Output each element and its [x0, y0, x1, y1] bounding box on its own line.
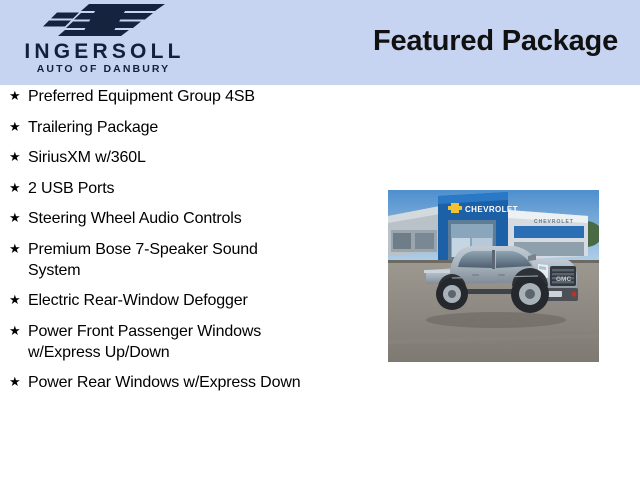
vehicle-photo-graphic: CHEVROLET CHEVROLET [388, 190, 599, 362]
star-bullet-icon: ★ [9, 116, 28, 138]
list-item: ★ Trailering Package [0, 116, 380, 138]
list-item: ★ Premium Bose 7-Speaker Sound System [0, 238, 380, 281]
feature-label: Electric Rear-Window Defogger [28, 289, 380, 311]
feature-label: Power Rear Windows w/Express Down [28, 371, 380, 393]
star-bullet-icon: ★ [9, 371, 28, 393]
star-bullet-icon: ★ [9, 320, 28, 342]
list-item: ★ SiriusXM w/360L [0, 146, 380, 168]
star-bullet-icon: ★ [9, 238, 28, 260]
feature-label: Trailering Package [28, 116, 380, 138]
star-bullet-icon: ★ [9, 85, 28, 107]
feature-list: ★ Preferred Equipment Group 4SB ★ Traile… [0, 85, 380, 402]
svg-text:GMC: GMC [556, 276, 571, 283]
feature-label: SiriusXM w/360L [28, 146, 380, 168]
page-title: Featured Package [373, 24, 618, 58]
feature-label: Steering Wheel Audio Controls [28, 207, 380, 229]
winged-f-emblem-icon [37, 2, 169, 40]
list-item: ★ 2 USB Ports [0, 177, 380, 199]
star-bullet-icon: ★ [9, 207, 28, 229]
feature-label: 2 USB Ports [28, 177, 380, 199]
gmc-sierra-at4-pickup-photo: CHEVROLET CHEVROLET [388, 190, 599, 362]
svg-text:CHEVROLET: CHEVROLET [534, 219, 574, 225]
star-bullet-icon: ★ [9, 177, 28, 199]
feature-label: Power Front Passenger Windows w/Express … [28, 320, 380, 363]
star-bullet-icon: ★ [9, 146, 28, 168]
list-item: ★ Steering Wheel Audio Controls [0, 207, 380, 229]
feature-label: Preferred Equipment Group 4SB [28, 85, 380, 107]
dealership-name: INGERSOLL [0, 40, 205, 63]
list-item: ★ Electric Rear-Window Defogger [0, 289, 380, 311]
star-bullet-icon: ★ [9, 289, 28, 311]
dealership-logo: INGERSOLL AUTO OF DANBURY [0, 2, 205, 82]
page-header: INGERSOLL AUTO OF DANBURY Featured Packa… [0, 0, 640, 85]
list-item: ★ Power Rear Windows w/Express Down [0, 371, 380, 393]
feature-label: Premium Bose 7-Speaker Sound System [28, 238, 380, 281]
dealership-tagline: AUTO OF DANBURY [0, 63, 205, 76]
list-item: ★ Preferred Equipment Group 4SB [0, 85, 380, 107]
list-item: ★ Power Front Passenger Windows w/Expres… [0, 320, 380, 363]
